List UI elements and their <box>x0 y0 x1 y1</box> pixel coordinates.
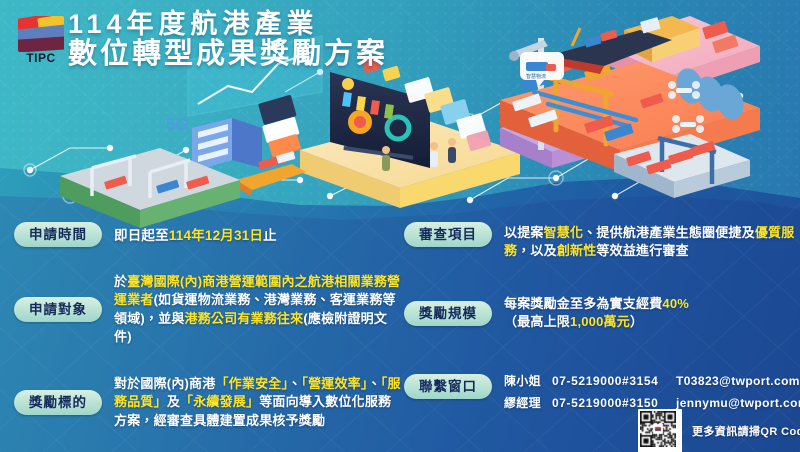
label-application-period: 申請時間 <box>14 222 102 247</box>
plain-text: 每案獎勵金至多為實支經費 <box>504 296 662 311</box>
tipc-logo: TIPC <box>18 16 64 66</box>
highlighted-text: 創新性 <box>557 243 597 258</box>
label-award-scale: 獎勵規模 <box>404 301 492 326</box>
info-row-application-period: 申請時間 即日起至114年12月31日止 <box>14 222 404 247</box>
highlighted-text: 「作業安全」 <box>215 376 288 391</box>
title-line-2: 數位轉型成果獎勵方案 <box>68 39 388 70</box>
plain-text: 止 <box>263 228 277 243</box>
plain-text: 、 <box>368 376 381 391</box>
logo-wordmark: TIPC <box>18 51 64 65</box>
highlighted-text: 114年12月31日 <box>169 228 263 243</box>
info-row-contact: 聯繫窗口 陳小姐07-5219000#3154T03823@twport.com… <box>404 368 796 414</box>
plain-text: 、 <box>288 376 301 391</box>
label-contact: 聯繫窗口 <box>404 374 492 399</box>
contact-row: 陳小姐07-5219000#3154T03823@twport.com.tw <box>504 370 800 392</box>
plain-text: ） <box>630 314 643 329</box>
label-award-target: 獎勵標的 <box>14 390 102 415</box>
plain-text: 對於國際(內)商港 <box>114 376 215 391</box>
plain-text: 以提案 <box>504 225 544 240</box>
contact-table: 陳小姐07-5219000#3154T03823@twport.com.tw繆經… <box>504 370 800 414</box>
info-column-left: 申請時間 即日起至114年12月31日止 申請對象 於臺灣國際(內)商港營運範圍… <box>14 222 404 444</box>
highlighted-text: 1,000萬元 <box>570 314 630 329</box>
contact-email[interactable]: T03823@twport.com.tw <box>676 370 800 392</box>
poster-header: TIPC 114年度航港產業 數位轉型成果獎勵方案 <box>0 0 800 92</box>
qr-caption: 更多資訊請掃QR Code <box>692 423 800 439</box>
highlighted-text: 40% <box>662 296 689 311</box>
info-row-award-target: 獎勵標的 對於國際(內)商港「作業安全」、「營運效率」、「服務品質」及「永續發展… <box>14 375 404 430</box>
info-row-award-scale: 獎勵規模 每案獎勵金至多為實支經費40%（最高上限1,000萬元） <box>404 295 796 332</box>
poster: 5G <box>0 0 800 452</box>
label-review-criteria: 審查項目 <box>404 222 492 247</box>
text-eligibility: 於臺灣國際(內)商港營運範圍內之航港相關業務營運業者(如貨運物流業務、港灣業務、… <box>102 273 404 347</box>
contact-phone: 07-5219000#3154 <box>552 370 676 392</box>
contact-name: 繆經理 <box>504 392 552 414</box>
text-award-target: 對於國際(內)商港「作業安全」、「營運效率」、「服務品質」及「永續發展」等面向導… <box>102 375 404 430</box>
plain-text: 等效益進行審查 <box>596 243 688 258</box>
qr-code-icon[interactable] <box>638 409 682 452</box>
text-award-scale: 每案獎勵金至多為實支經費40%（最高上限1,000萬元） <box>492 295 796 332</box>
page-title: 114年度航港產業 數位轉型成果獎勵方案 <box>68 10 388 70</box>
info-column-right: 審查項目 以提案智慧化、提供航港產業生態圈便捷及優質服務，以及創新性等效益進行審… <box>404 222 796 428</box>
text-application-period: 即日起至114年12月31日止 <box>102 222 404 245</box>
plain-text: （最高上限 <box>504 314 570 329</box>
highlighted-text: 港務公司有業務往來 <box>185 311 304 326</box>
contact-name: 陳小姐 <box>504 370 552 392</box>
qr-section: 更多資訊請掃QR Code <box>638 409 800 452</box>
highlighted-text: 「營運效率」 <box>301 376 367 391</box>
highlighted-text: 智慧化 <box>544 225 584 240</box>
plain-text: ，以及 <box>517 243 557 258</box>
plain-text: 、提供航港產業生態圈便捷及 <box>583 225 755 240</box>
plain-text: 於 <box>114 274 127 289</box>
highlighted-text: 「永續發展」 <box>180 394 259 409</box>
plain-text: 及 <box>167 394 180 409</box>
logo-wave-bands <box>18 16 64 52</box>
plain-text: 即日起至 <box>114 228 169 243</box>
info-row-eligibility: 申請對象 於臺灣國際(內)商港營運範圍內之航港相關業務營運業者(如貨運物流業務、… <box>14 273 404 347</box>
label-eligibility: 申請對象 <box>14 297 102 322</box>
title-line-1: 114年度航港產業 <box>68 10 388 39</box>
info-row-review-criteria: 審查項目 以提案智慧化、提供航港產業生態圈便捷及優質服務，以及創新性等效益進行審… <box>404 222 796 261</box>
text-review-criteria: 以提案智慧化、提供航港產業生態圈便捷及優質服務，以及創新性等效益進行審查 <box>492 222 796 261</box>
